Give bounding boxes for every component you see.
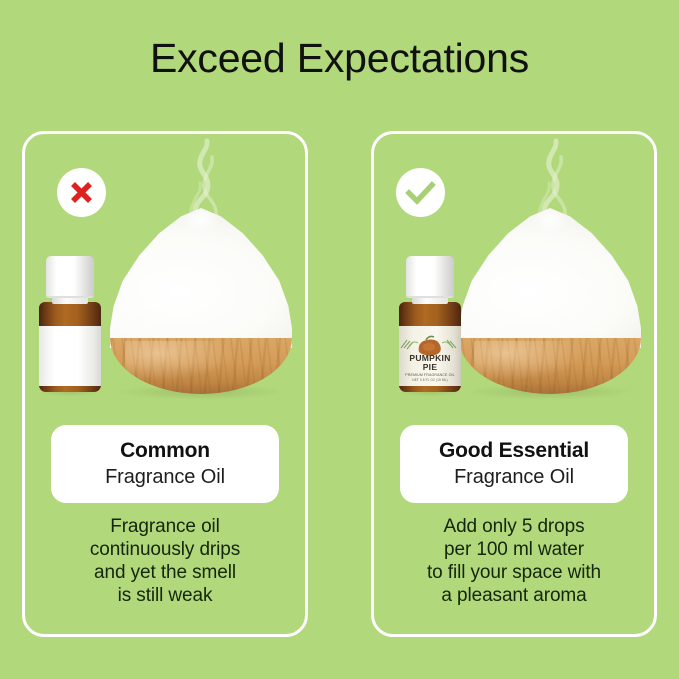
description-line: Add only 5 drops — [371, 515, 657, 538]
description-line: is still weak — [22, 584, 308, 607]
bottle-cap — [46, 256, 94, 298]
description-line: Fragrance oil — [22, 515, 308, 538]
product-name-subtitle: Fragrance Oil — [454, 464, 574, 490]
bottle-label-text: PUMPKIN PIE PREMIUM FRAGRANCE OIL NET 0.… — [399, 354, 461, 382]
oil-bottle-common — [39, 256, 101, 392]
product-name-subtitle: Fragrance Oil — [105, 464, 225, 490]
check-icon — [396, 168, 445, 217]
status-badge-positive — [396, 168, 445, 217]
diffuser-tip-glow — [182, 204, 220, 234]
diffuser-dome — [459, 208, 641, 348]
bottle-label — [39, 326, 101, 386]
bottle-body: PUMPKIN PIE PREMIUM FRAGRANCE OIL NET 0.… — [399, 302, 461, 392]
bottle-cap — [406, 256, 454, 298]
product-comparison-graphic: Exceed Expectations — [0, 0, 679, 679]
product-name-title: Good Essential — [439, 438, 589, 464]
essential-oil-diffuser — [459, 208, 641, 394]
product-name-card-good-essential: Good Essential Fragrance Oil — [400, 425, 628, 503]
bottle-label-blank — [39, 326, 101, 386]
cross-icon — [68, 179, 95, 206]
description-line: continuously drips — [22, 538, 308, 561]
diffuser-dome — [110, 208, 292, 348]
label-line-2: PIE — [399, 363, 461, 372]
label-line-4: NET 0.5 FL OZ (15 ML) — [399, 378, 461, 382]
bottle-label: PUMPKIN PIE PREMIUM FRAGRANCE OIL NET 0.… — [399, 326, 461, 386]
diffuser-tip-glow — [531, 204, 569, 234]
description-line: and yet the smell — [22, 561, 308, 584]
product-name-card-common: Common Fragrance Oil — [51, 425, 279, 503]
description-line: per 100 ml water — [371, 538, 657, 561]
description-line: a pleasant aroma — [371, 584, 657, 607]
bottle-label-pumpkin-pie: PUMPKIN PIE PREMIUM FRAGRANCE OIL NET 0.… — [399, 326, 461, 386]
oil-bottle-good-essential: PUMPKIN PIE PREMIUM FRAGRANCE OIL NET 0.… — [399, 256, 461, 392]
description-line: to fill your space with — [371, 561, 657, 584]
pumpkin-illustration-icon — [399, 326, 461, 356]
description-good-essential: Add only 5 drops per 100 ml water to fil… — [371, 515, 657, 607]
description-common: Fragrance oil continuously drips and yet… — [22, 515, 308, 607]
status-badge-negative — [57, 168, 106, 217]
essential-oil-diffuser — [110, 208, 292, 394]
bottle-body — [39, 302, 101, 392]
page-title: Exceed Expectations — [0, 34, 679, 83]
product-name-title: Common — [120, 438, 210, 464]
